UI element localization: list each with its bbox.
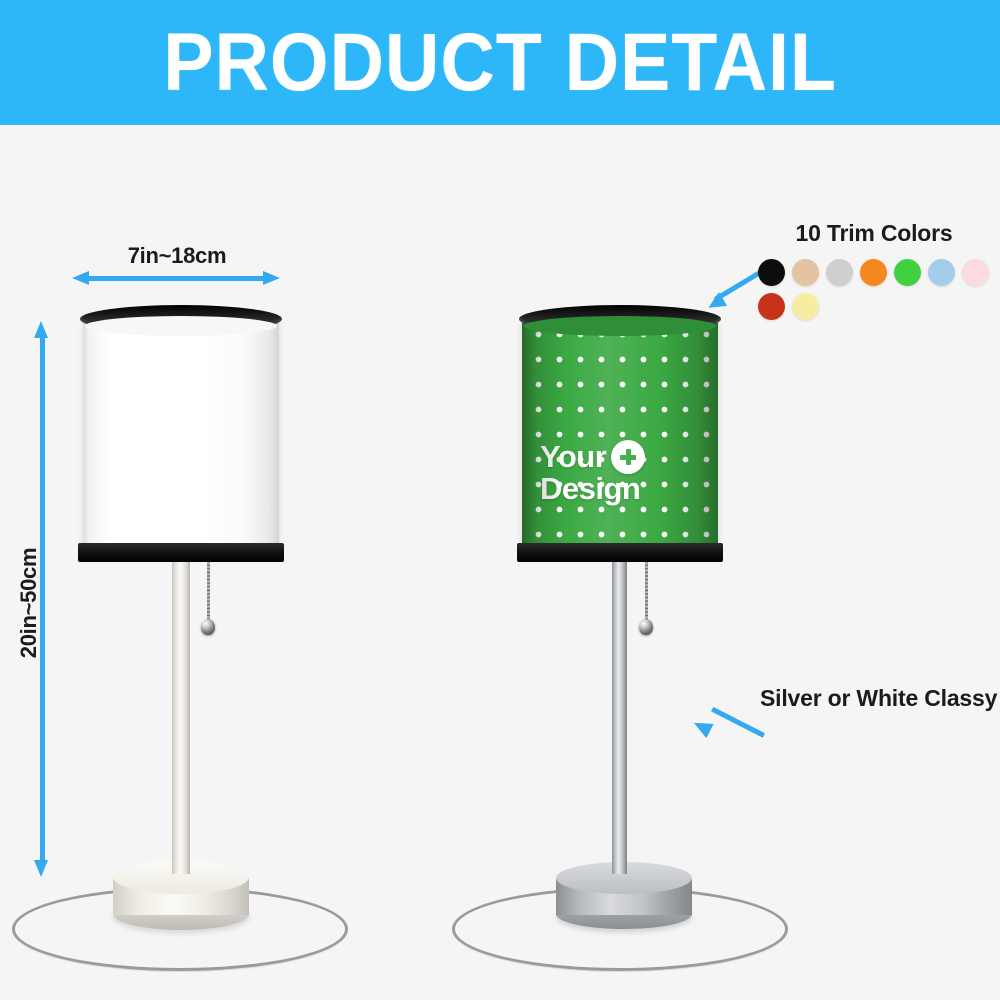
trim-swatch-light-blue[interactable] (928, 259, 955, 286)
trim-swatch-pink[interactable] (962, 259, 989, 286)
page-title: PRODUCT DETAIL (163, 22, 837, 104)
height-arrow-line (40, 337, 45, 862)
lamp-shade-white (83, 318, 279, 550)
shade-trim-bottom (78, 543, 284, 562)
pull-chain[interactable] (645, 562, 648, 624)
height-dimension-label: 20in~50cm (16, 488, 42, 718)
product-illustration-stage: 7in~18cm 20in~50cm (0, 125, 1000, 1000)
shade-trim-top (519, 305, 721, 333)
product-detail-banner: PRODUCT DETAIL (0, 0, 1000, 125)
trim-colors-title: 10 Trim Colors (748, 220, 1000, 247)
width-dimension-label: 7in~18cm (62, 243, 292, 269)
shade-trim-bottom (517, 543, 723, 562)
trim-swatch-pale-yellow[interactable] (792, 293, 819, 320)
trim-colors-panel: 10 Trim Colors (748, 220, 1000, 320)
trim-swatch-black[interactable] (758, 259, 785, 286)
base-finish-arrow-line (711, 707, 765, 737)
base-finish-label: Silver or White Classy (760, 685, 997, 712)
width-arrow-head-left (72, 271, 89, 285)
shade-cylinder-shading (522, 318, 718, 550)
pull-chain[interactable] (207, 562, 210, 624)
base-finish-arrow-head (690, 716, 713, 738)
lamp-shade-green: Your Design (522, 318, 718, 550)
trim-swatch-tan[interactable] (792, 259, 819, 286)
trim-swatch-green[interactable] (894, 259, 921, 286)
height-arrow-head-bottom (34, 860, 48, 877)
lamp-stem (612, 562, 627, 874)
lamp-stem (172, 562, 190, 874)
trim-swatch-dark-red[interactable] (758, 293, 785, 320)
trim-color-swatch-list (748, 259, 1000, 320)
trim-swatch-light-gray[interactable] (826, 259, 853, 286)
height-arrow-head-top (34, 321, 48, 338)
trim-swatch-orange[interactable] (860, 259, 887, 286)
width-arrow-line (87, 276, 265, 281)
pull-chain-ball[interactable] (201, 619, 215, 635)
pull-chain-ball[interactable] (639, 619, 653, 635)
width-arrow-head-right (263, 271, 280, 285)
shade-trim-top (80, 305, 282, 333)
